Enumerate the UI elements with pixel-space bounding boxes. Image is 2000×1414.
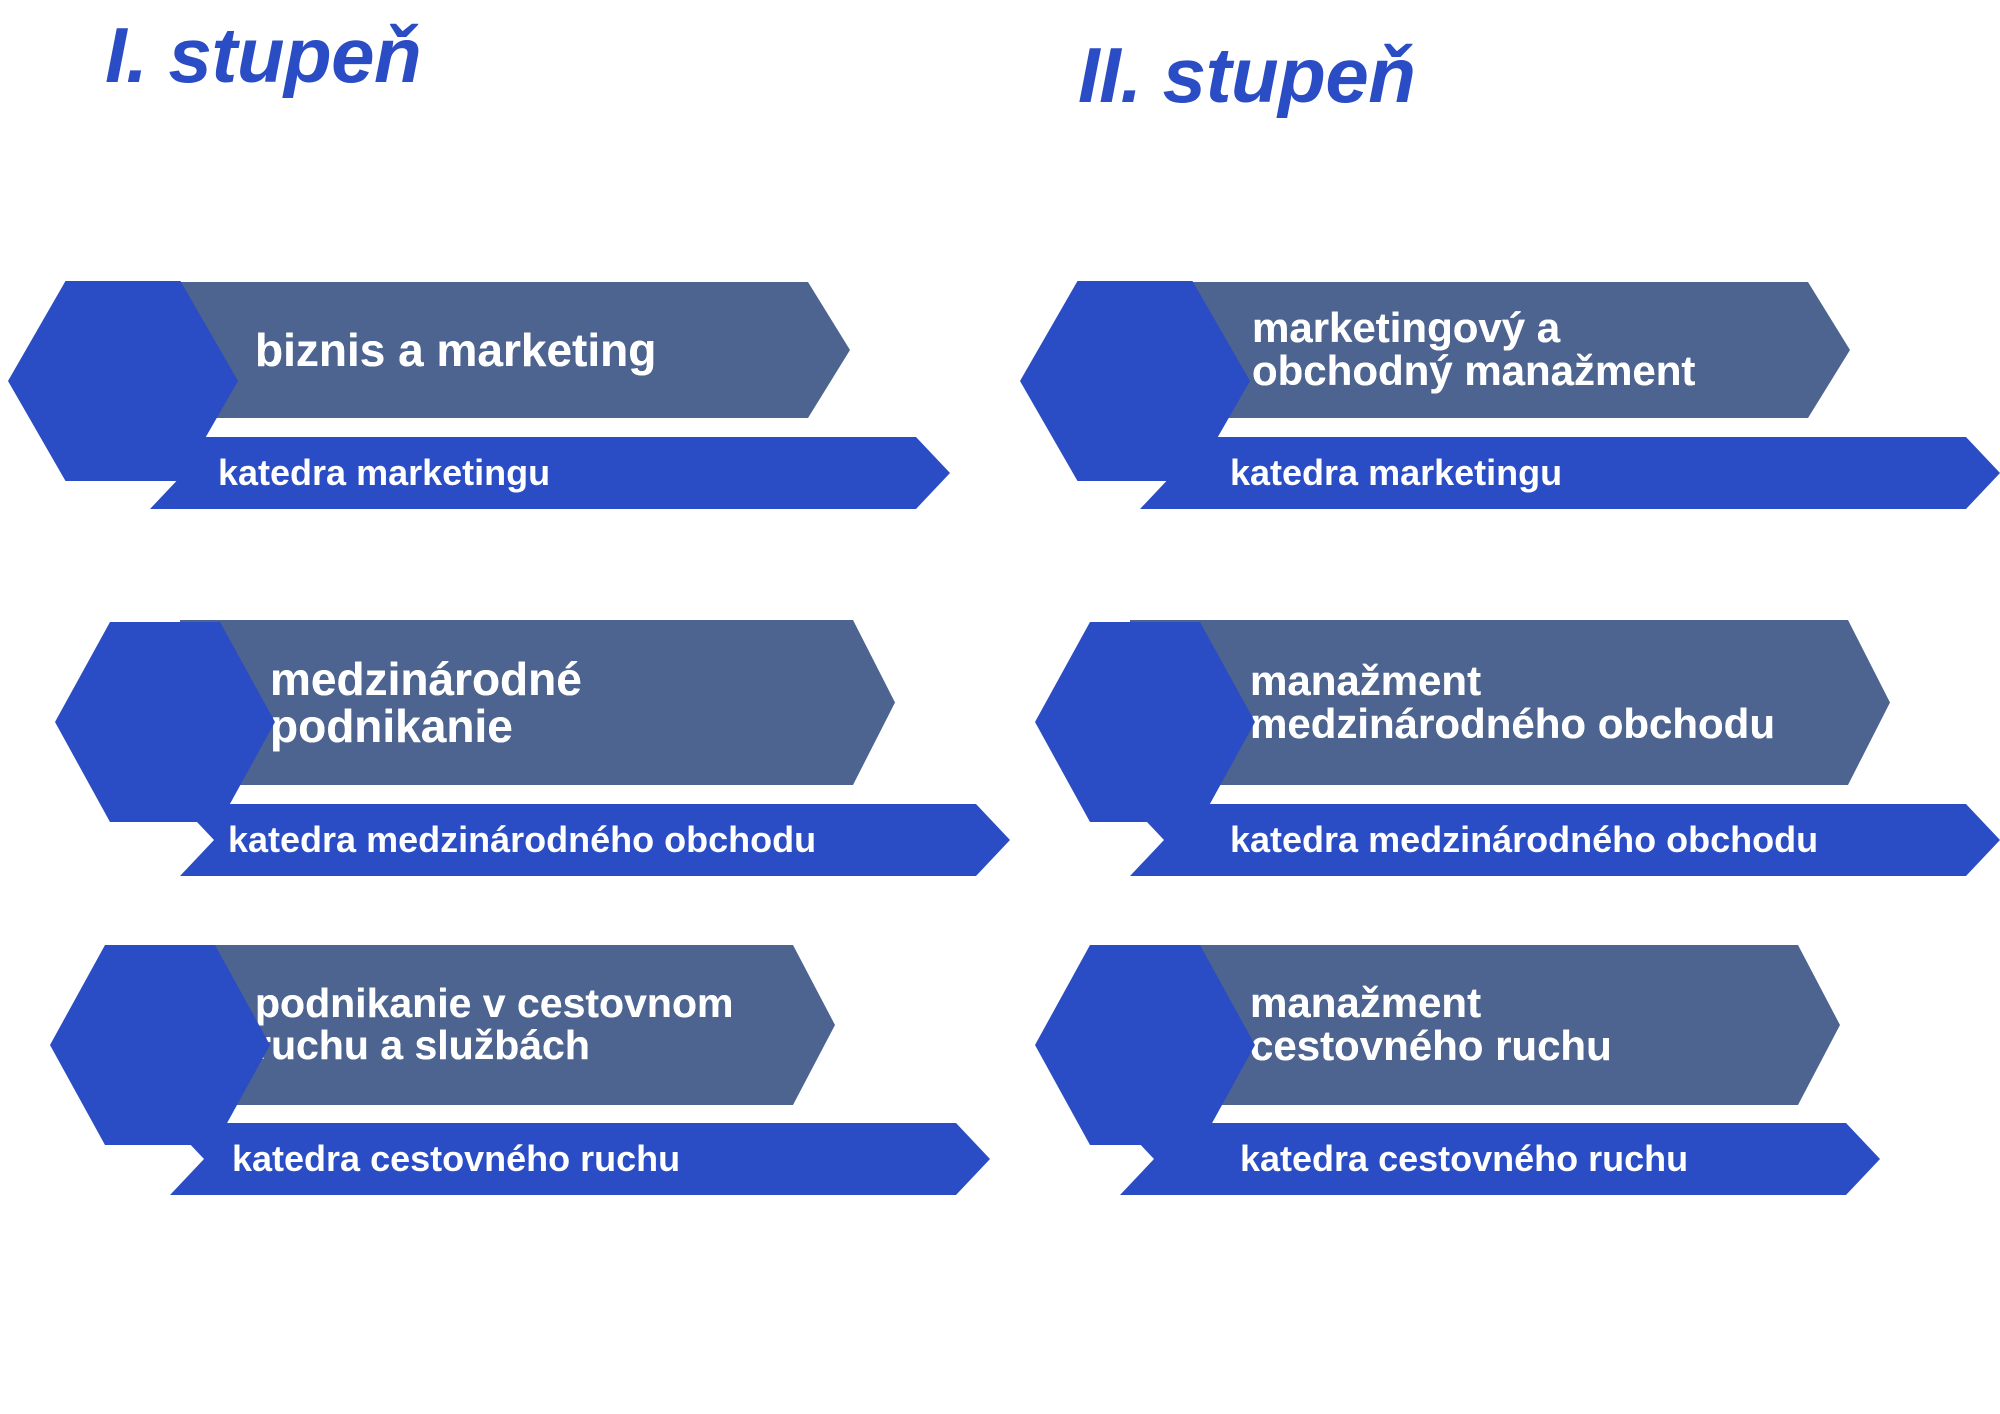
program-banner-l1[interactable]: biznis a marketing [150, 282, 850, 418]
department-banner-r3[interactable]: katedra cestovného ruchu [1120, 1123, 1880, 1195]
department-banner-l2[interactable]: katedra medzinárodného obchodu [180, 804, 1010, 876]
program-banner-l3[interactable]: podnikanie v cestovnom ruchu a službách [175, 945, 835, 1105]
department-label-l1: katedra marketingu [218, 455, 550, 491]
program-label-r1: marketingový a obchodný manažment [1252, 307, 1695, 393]
department-banner-r1[interactable]: katedra marketingu [1140, 437, 2000, 509]
diagram-canvas: I. stupeň II. stupeň biznis a marketing … [0, 0, 2000, 1414]
column-title-stupen-1: I. stupeň [105, 16, 421, 94]
program-banner-l2[interactable]: medzinárodné podnikanie [180, 620, 895, 785]
program-label-r3: manažment cestovného ruchu [1250, 982, 1612, 1068]
department-label-l3: katedra cestovného ruchu [232, 1141, 680, 1177]
department-label-r2: katedra medzinárodného obchodu [1230, 822, 1818, 858]
program-label-l2: medzinárodné podnikanie [270, 656, 582, 750]
program-banner-r1[interactable]: marketingový a obchodný manažment [1140, 282, 1850, 418]
program-label-r2: manažment medzinárodného obchodu [1250, 660, 1775, 746]
department-banner-l1[interactable]: katedra marketingu [150, 437, 950, 509]
department-banner-r2[interactable]: katedra medzinárodného obchodu [1130, 804, 2000, 876]
department-label-l2: katedra medzinárodného obchodu [228, 822, 816, 858]
column-title-stupen-2: II. stupeň [1078, 36, 1415, 114]
program-label-l1: biznis a marketing [255, 327, 656, 374]
department-banner-l3[interactable]: katedra cestovného ruchu [170, 1123, 990, 1195]
program-label-l3: podnikanie v cestovnom ruchu a službách [255, 983, 733, 1067]
department-label-r1: katedra marketingu [1230, 455, 1562, 491]
department-label-r3: katedra cestovného ruchu [1240, 1141, 1688, 1177]
